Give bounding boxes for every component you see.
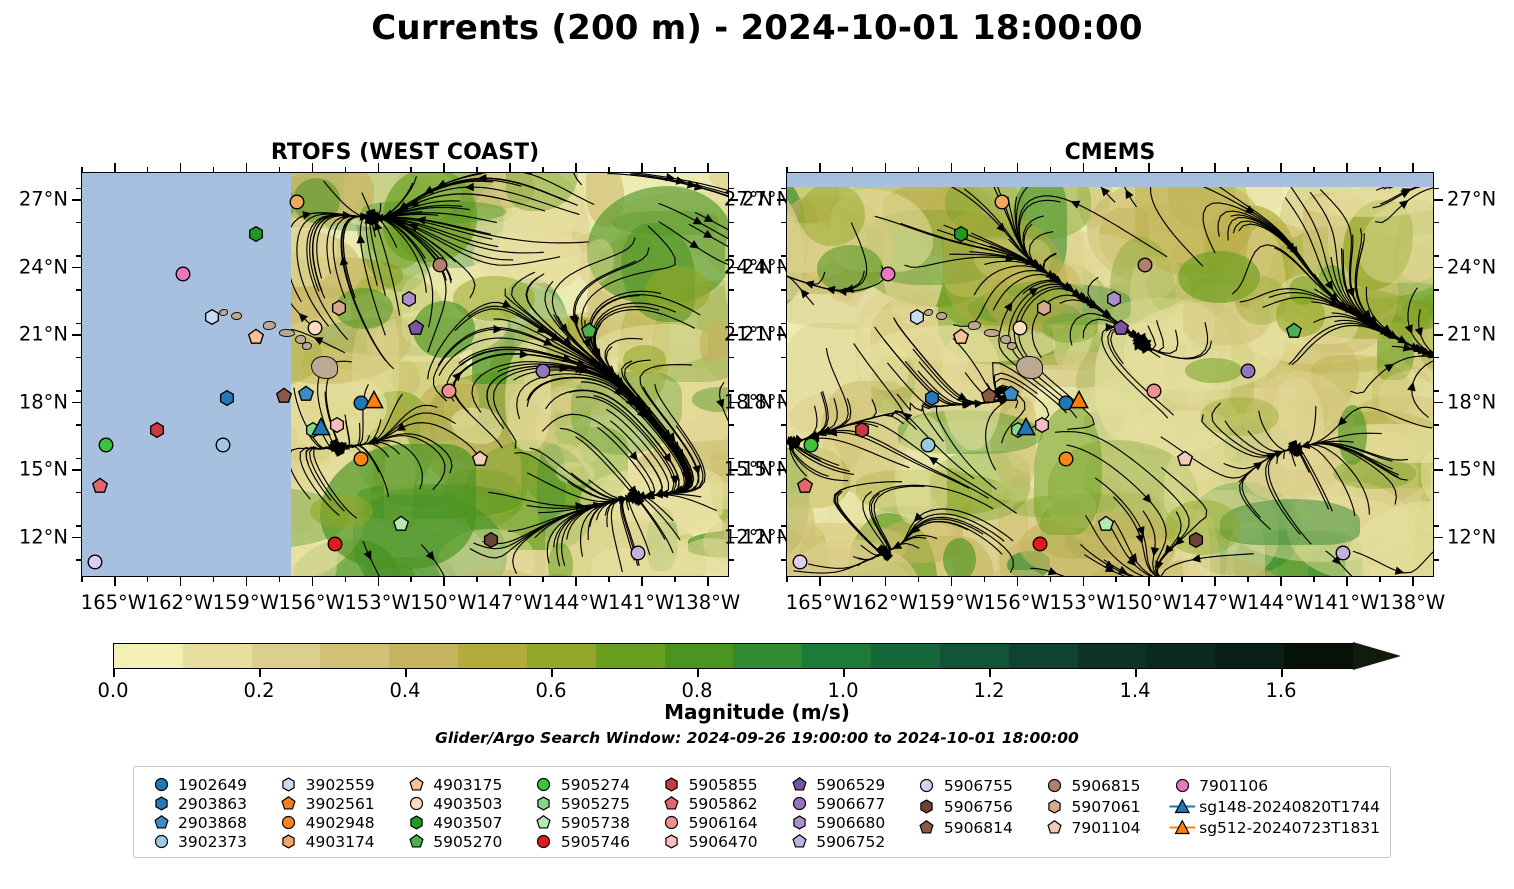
colorbar-tick <box>989 669 991 677</box>
colorbar-tick-label: 0.4 <box>389 679 420 702</box>
y-tick-minor <box>781 222 786 224</box>
y-axis-label: 27°N <box>724 188 773 211</box>
y-tick-minor <box>1434 390 1439 392</box>
y-tick-minor <box>76 323 81 325</box>
legend-item[interactable]: 4903175 <box>399 775 527 794</box>
y-axis-label: 21°N <box>19 323 68 346</box>
colorbar-segment <box>527 644 596 668</box>
legend-item[interactable]: 5906755 <box>910 775 1038 796</box>
x-axis-label: 138°W <box>674 591 740 614</box>
y-axis-label: 18°N <box>1447 390 1496 413</box>
x-tick-major <box>1083 163 1085 172</box>
island-shape <box>924 309 933 316</box>
colorbar-segment <box>1009 644 1078 668</box>
y-tick-major <box>777 537 786 539</box>
legend-item-label: sg148-20240820T1744 <box>1199 798 1380 816</box>
float-marker[interactable] <box>1334 545 1351 562</box>
float-marker[interactable] <box>981 387 998 404</box>
x-tick-major <box>246 163 248 172</box>
x-axis-label: 165°W <box>786 591 852 614</box>
float-marker[interactable] <box>482 531 499 548</box>
colorbar: 0.00.20.40.60.81.01.21.41.6 <box>113 643 1402 669</box>
y-tick-minor <box>1434 525 1439 527</box>
x-tick-major <box>509 577 511 586</box>
x-axis-label: 156°W <box>984 591 1050 614</box>
x-axis-label: 150°W <box>410 591 476 614</box>
float-marker-icon <box>144 815 178 830</box>
x-axis-label: 159°W <box>213 591 279 614</box>
y-tick-major <box>777 199 786 201</box>
x-tick-minor <box>1247 167 1249 172</box>
float-marker-icon <box>399 815 433 830</box>
float-marker-icon <box>527 815 561 830</box>
y-tick-minor <box>76 424 81 426</box>
legend-item[interactable]: 5905270 <box>399 832 527 851</box>
legend-item[interactable]: 5905746 <box>527 832 655 851</box>
x-axis-label: 153°W <box>1049 591 1115 614</box>
x-tick-major <box>575 577 577 586</box>
x-tick-major <box>1017 577 1019 586</box>
float-marker[interactable] <box>1145 383 1162 400</box>
float-marker[interactable] <box>1187 531 1204 548</box>
float-marker[interactable] <box>247 329 264 346</box>
legend-item-label: 5906677 <box>816 795 885 813</box>
x-axis-label: 162°W <box>852 591 918 614</box>
float-marker-icon <box>655 796 689 811</box>
y-axis-label: 12°N <box>19 525 68 548</box>
float-marker[interactable] <box>923 390 940 407</box>
float-marker-icon <box>399 834 433 849</box>
x-tick-major <box>707 163 709 172</box>
legend-item-label: 5907061 <box>1071 798 1140 816</box>
float-marker[interactable] <box>796 477 813 494</box>
x-axis-label: 153°W <box>344 591 410 614</box>
x-tick-major <box>1017 163 1019 172</box>
x-tick-major <box>885 163 887 172</box>
colorbar-segment <box>458 644 527 668</box>
legend-item[interactable]: 5906752 <box>782 832 910 851</box>
float-marker-icon <box>655 777 689 792</box>
y-tick-major <box>777 334 786 336</box>
colorbar-segment <box>1215 644 1284 668</box>
x-tick-minor <box>345 167 347 172</box>
legend-item[interactable]: 5906470 <box>655 832 783 851</box>
legend-item[interactable]: 7901106 <box>1165 775 1380 796</box>
x-tick-major <box>509 163 511 172</box>
float-marker[interactable] <box>276 387 293 404</box>
legend-item[interactable]: 5906815 <box>1037 775 1165 796</box>
figure-root: Currents (200 m) - 2024-10-01 18:00:00 R… <box>0 0 1514 889</box>
float-marker[interactable] <box>952 225 969 242</box>
float-marker[interactable] <box>535 363 552 380</box>
float-marker[interactable] <box>803 437 820 454</box>
y-tick-minor <box>76 390 81 392</box>
colorbar-segment <box>320 644 389 668</box>
x-tick-minor <box>608 167 610 172</box>
colorbar-tick <box>551 669 553 677</box>
float-marker[interactable] <box>1036 300 1053 317</box>
float-marker[interactable] <box>853 421 870 438</box>
float-marker[interactable] <box>218 390 235 407</box>
float-marker[interactable] <box>326 536 343 553</box>
y-tick-minor <box>76 559 81 561</box>
legend-item[interactable]: 3902559 <box>272 775 400 794</box>
legend-item[interactable]: 5905275 <box>527 794 655 813</box>
float-marker[interactable] <box>471 450 488 467</box>
float-marker-icon <box>1165 778 1199 793</box>
y-tick-major <box>777 402 786 404</box>
x-axis-label: 144°W <box>542 591 608 614</box>
search-window-subtitle: Glider/Argo Search Window: 2024-09-26 19… <box>0 729 1514 747</box>
legend-column: 4903175490350349035075905270 <box>399 775 527 851</box>
x-tick-major <box>1346 163 1348 172</box>
float-marker[interactable] <box>908 309 925 326</box>
x-tick-minor <box>345 577 347 582</box>
x-tick-minor <box>984 577 986 582</box>
float-marker-icon <box>527 834 561 849</box>
x-tick-minor <box>542 577 544 582</box>
float-marker[interactable] <box>331 300 348 317</box>
legend-item[interactable]: 5905862 <box>655 794 783 813</box>
legend-item-label: 5906529 <box>816 776 885 794</box>
y-tick-major <box>1434 334 1443 336</box>
legend-item-label: 5905855 <box>689 776 758 794</box>
float-marker[interactable] <box>994 194 1011 211</box>
y-tick-minor <box>76 357 81 359</box>
panel-title-cmems: CMEMS <box>786 140 1434 165</box>
x-tick-major <box>1214 577 1216 586</box>
x-tick-major <box>312 163 314 172</box>
legend-item-label: 5906680 <box>816 814 885 832</box>
y-axis-label: 15°N <box>724 458 773 481</box>
legend-item-label: 4903507 <box>433 814 502 832</box>
float-marker[interactable] <box>1286 322 1303 339</box>
legend-column: 3902559390256149029484903174 <box>272 775 400 851</box>
legend-item[interactable]: 5906529 <box>782 775 910 794</box>
y-tick-major <box>72 537 81 539</box>
y-tick-minor <box>781 323 786 325</box>
float-marker[interactable] <box>148 421 165 438</box>
float-marker-icon <box>272 796 306 811</box>
y-tick-minor <box>1434 458 1439 460</box>
float-marker-icon <box>272 815 306 830</box>
float-marker[interactable] <box>629 545 646 562</box>
legend-item[interactable]: 5907061 <box>1037 796 1165 817</box>
legend-item-label: sg512-20240723T1831 <box>1199 819 1380 837</box>
x-tick-major <box>885 577 887 586</box>
float-marker-icon <box>399 777 433 792</box>
legend-item-label: 5906755 <box>944 777 1013 795</box>
colorbar-tick-label: 1.0 <box>827 679 858 702</box>
float-marker-icon <box>144 796 178 811</box>
x-tick-major <box>641 163 643 172</box>
float-marker[interactable] <box>306 320 323 337</box>
y-axis-label: 27°N <box>1447 188 1496 211</box>
float-marker[interactable] <box>1003 385 1020 402</box>
y-tick-major <box>72 402 81 404</box>
y-tick-minor <box>76 222 81 224</box>
colorbar-tick <box>113 669 115 677</box>
y-tick-major <box>1434 267 1443 269</box>
island-shape <box>279 329 295 337</box>
float-marker-icon <box>782 834 816 849</box>
x-tick-minor <box>608 577 610 582</box>
float-marker[interactable] <box>440 383 457 400</box>
x-tick-major <box>819 577 821 586</box>
y-axis-label: 12°N <box>1447 525 1496 548</box>
float-marker-icon <box>782 796 816 811</box>
y-tick-minor <box>1434 357 1439 359</box>
x-tick-minor <box>1379 167 1381 172</box>
float-marker[interactable] <box>1097 516 1114 533</box>
colorbar-title: Magnitude (m/s) <box>0 700 1514 724</box>
legend-item[interactable]: 4902948 <box>272 813 400 832</box>
y-tick-minor <box>76 458 81 460</box>
float-marker[interactable] <box>952 329 969 346</box>
x-tick-major <box>1148 577 1150 586</box>
colorbar-tick-label: 0.2 <box>243 679 274 702</box>
y-tick-minor <box>76 289 81 291</box>
x-tick-major <box>1346 577 1348 586</box>
legend-item[interactable]: 3902373 <box>144 832 272 851</box>
x-tick-minor <box>213 167 215 172</box>
map-rtofs[interactable] <box>81 172 729 577</box>
x-tick-minor <box>674 577 676 582</box>
float-marker[interactable] <box>919 437 936 454</box>
float-marker[interactable] <box>792 554 809 571</box>
legend-item[interactable]: 1902649 <box>144 775 272 794</box>
x-tick-major <box>443 163 445 172</box>
x-tick-minor <box>1379 577 1381 582</box>
map-cmems[interactable] <box>786 172 1434 577</box>
colorbar-segment <box>665 644 734 668</box>
x-tick-major <box>443 577 445 586</box>
y-tick-minor <box>729 222 734 224</box>
glider-icon <box>1165 820 1199 835</box>
float-marker[interactable] <box>432 257 449 274</box>
legend-item-label: 7901106 <box>1199 777 1268 795</box>
legend-item-label: 4902948 <box>306 814 375 832</box>
float-marker[interactable] <box>91 477 108 494</box>
float-marker[interactable] <box>1106 291 1123 308</box>
legend-item[interactable]: 5905855 <box>655 775 783 794</box>
legend-item[interactable]: 2903863 <box>144 794 272 813</box>
float-marker[interactable] <box>298 385 315 402</box>
float-legend[interactable]: 1902649290386329038683902373390255939025… <box>133 766 1391 858</box>
legend-item[interactable]: 5906164 <box>655 813 783 832</box>
x-tick-minor <box>674 167 676 172</box>
float-marker[interactable] <box>214 437 231 454</box>
x-tick-minor <box>81 167 83 172</box>
x-tick-minor <box>81 577 83 582</box>
float-marker[interactable] <box>581 322 598 339</box>
float-marker[interactable] <box>1176 450 1193 467</box>
legend-item[interactable]: 7901104 <box>1037 817 1165 838</box>
legend-item-label: 5906815 <box>1071 777 1140 795</box>
x-tick-major <box>180 163 182 172</box>
float-marker[interactable] <box>1137 257 1154 274</box>
float-marker[interactable] <box>247 225 264 242</box>
legend-item[interactable]: 3902561 <box>272 794 400 813</box>
legend-item[interactable]: 5906677 <box>782 794 910 813</box>
float-marker[interactable] <box>401 291 418 308</box>
y-tick-major <box>777 267 786 269</box>
panel-rtofs: RTOFS (WEST COAST) 165°W162°W159°W156°W1… <box>81 172 729 577</box>
x-tick-major <box>1280 577 1282 586</box>
float-marker[interactable] <box>1031 536 1048 553</box>
glider-marker[interactable] <box>1070 391 1089 410</box>
legend-item-label: 4903174 <box>306 833 375 851</box>
float-marker-icon <box>399 796 433 811</box>
colorbar-tick <box>697 669 699 677</box>
x-axis-label: 141°W <box>1313 591 1379 614</box>
y-axis-label: 15°N <box>19 458 68 481</box>
legend-item-label: 3902559 <box>306 776 375 794</box>
x-tick-major <box>1280 163 1282 172</box>
legend-item-label: 2903863 <box>178 795 247 813</box>
y-tick-major <box>72 334 81 336</box>
colorbar-segment <box>733 644 802 668</box>
x-axis-label: 156°W <box>279 591 345 614</box>
x-axis-label: 162°W <box>147 591 213 614</box>
y-tick-major <box>72 469 81 471</box>
panel-cmems: CMEMS 165°W162°W159°W156°W153°W150°W147°… <box>786 172 1434 577</box>
y-tick-minor <box>1434 492 1439 494</box>
colorbar-extend-arrow <box>1353 642 1401 670</box>
x-tick-minor <box>213 577 215 582</box>
float-marker[interactable] <box>87 554 104 571</box>
glider-marker[interactable] <box>1017 418 1036 437</box>
glider-marker[interactable] <box>365 391 384 410</box>
float-marker[interactable] <box>880 266 897 283</box>
float-marker[interactable] <box>352 450 369 467</box>
x-tick-major <box>180 577 182 586</box>
x-tick-minor <box>1313 167 1315 172</box>
x-axis-label: 150°W <box>1115 591 1181 614</box>
colorbar-segment <box>1284 644 1353 668</box>
x-tick-major <box>1148 163 1150 172</box>
y-tick-minor <box>781 357 786 359</box>
float-marker-icon <box>272 777 306 792</box>
x-axis-label: 138°W <box>1379 591 1445 614</box>
float-marker-icon <box>1037 820 1071 835</box>
x-axis-label: 165°W <box>81 591 147 614</box>
panel-title-rtofs: RTOFS (WEST COAST) <box>81 140 729 165</box>
y-tick-minor <box>76 188 81 190</box>
colorbar-tick <box>405 669 407 677</box>
colorbar-segment <box>1146 644 1215 668</box>
x-tick-major <box>378 163 380 172</box>
y-axis-label: 18°N <box>19 390 68 413</box>
legend-item[interactable]: 5906756 <box>910 796 1038 817</box>
colorbar-tick <box>259 669 261 677</box>
colorbar-tick <box>1281 669 1283 677</box>
legend-item[interactable]: sg148-20240820T1744 <box>1165 796 1380 817</box>
legend-item[interactable]: 5906814 <box>910 817 1038 838</box>
float-marker[interactable] <box>203 309 220 326</box>
x-tick-major <box>575 163 577 172</box>
y-tick-minor <box>781 492 786 494</box>
y-tick-minor <box>1434 424 1439 426</box>
y-tick-minor <box>1434 289 1439 291</box>
y-tick-minor <box>1434 188 1439 190</box>
x-tick-minor <box>1050 577 1052 582</box>
legend-item-label: 1902649 <box>178 776 247 794</box>
legend-column: 1902649290386329038683902373 <box>144 775 272 851</box>
y-tick-minor <box>781 424 786 426</box>
island-shape <box>984 329 1000 337</box>
x-axis-label: 147°W <box>476 591 542 614</box>
y-tick-major <box>1434 537 1443 539</box>
x-tick-minor <box>1181 167 1183 172</box>
y-tick-minor <box>729 492 734 494</box>
x-axis-label: 141°W <box>608 591 674 614</box>
legend-item[interactable]: 5905274 <box>527 775 655 794</box>
legend-item[interactable]: 5906680 <box>782 813 910 832</box>
legend-item[interactable]: 2903868 <box>144 813 272 832</box>
x-tick-minor <box>1115 577 1117 582</box>
y-tick-minor <box>781 458 786 460</box>
y-tick-minor <box>1434 323 1439 325</box>
float-marker[interactable] <box>98 437 115 454</box>
legend-item[interactable]: 4903174 <box>272 832 400 851</box>
float-marker[interactable] <box>1011 320 1028 337</box>
legend-item[interactable]: 5905738 <box>527 813 655 832</box>
legend-item[interactable]: 4903503 <box>399 794 527 813</box>
x-tick-major <box>1214 163 1216 172</box>
float-marker-icon <box>527 796 561 811</box>
x-axis-label: 147°W <box>1181 591 1247 614</box>
colorbar-segment <box>871 644 940 668</box>
y-tick-minor <box>729 357 734 359</box>
legend-item-label: 5905862 <box>689 795 758 813</box>
y-axis-label: 24°N <box>1447 255 1496 278</box>
float-marker[interactable] <box>1112 320 1129 337</box>
legend-column: 590681559070617901104 <box>1037 775 1165 851</box>
x-tick-minor <box>1115 167 1117 172</box>
colorbar-segment <box>114 644 183 668</box>
legend-column: 7901106sg148-20240820T1744sg512-20240723… <box>1165 775 1380 851</box>
y-tick-minor <box>781 289 786 291</box>
colorbar-tick-label: 1.6 <box>1265 679 1296 702</box>
x-tick-minor <box>1181 577 1183 582</box>
y-tick-minor <box>1434 559 1439 561</box>
float-marker[interactable] <box>289 194 306 211</box>
float-marker-icon <box>655 815 689 830</box>
x-tick-major <box>312 577 314 586</box>
legend-item[interactable]: sg512-20240723T1831 <box>1165 817 1380 838</box>
glider-marker[interactable] <box>312 418 331 437</box>
island-shape <box>231 312 242 320</box>
float-marker-icon <box>782 815 816 830</box>
x-tick-minor <box>918 167 920 172</box>
nodata-region-cmems <box>787 173 1433 187</box>
y-tick-minor <box>781 255 786 257</box>
y-tick-minor <box>781 390 786 392</box>
float-marker[interactable] <box>175 266 192 283</box>
float-marker[interactable] <box>1057 450 1074 467</box>
float-marker[interactable] <box>392 516 409 533</box>
float-marker[interactable] <box>1240 363 1257 380</box>
float-marker[interactable] <box>407 320 424 337</box>
legend-column: 5905855590586259061645906470 <box>655 775 783 851</box>
x-axis-label: 159°W <box>918 591 984 614</box>
legend-item[interactable]: 4903507 <box>399 813 527 832</box>
colorbar-segment <box>252 644 321 668</box>
colorbar-segment <box>596 644 665 668</box>
x-tick-major <box>1412 163 1414 172</box>
y-tick-minor <box>76 525 81 527</box>
